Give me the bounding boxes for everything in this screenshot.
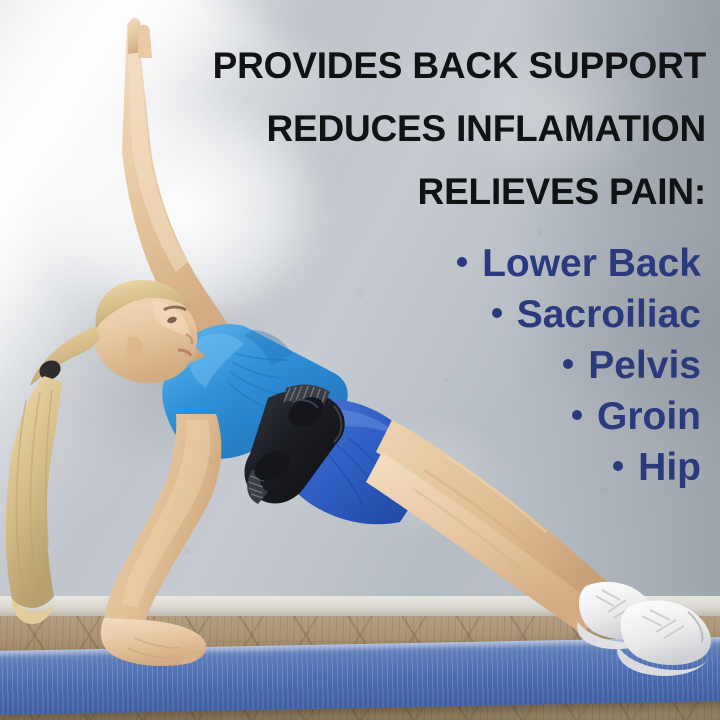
list-item: Hip (281, 442, 701, 493)
bullet-dot-icon (613, 461, 623, 471)
wall-baseboard (0, 596, 720, 618)
bullet-dot-icon (572, 410, 582, 420)
bullet-dot-icon (492, 308, 502, 318)
bullet-label: Hip (638, 446, 701, 489)
list-item: Pelvis (281, 340, 701, 391)
list-item: Lower Back (281, 238, 701, 289)
bullet-label: Groin (597, 395, 701, 438)
headline-block: PROVIDES BACK SUPPORT REDUCES INFLAMATIO… (146, 34, 706, 223)
bullet-label: Lower Back (482, 242, 701, 285)
pain-relief-bullet-list: Lower Back Sacroiliac Pelvis Groin Hip (281, 238, 701, 493)
bullet-dot-icon (457, 257, 467, 267)
headline-line-1: PROVIDES BACK SUPPORT (146, 34, 706, 97)
list-item: Groin (281, 391, 701, 442)
bullet-label: Sacroiliac (517, 293, 701, 336)
bullet-dot-icon (563, 359, 573, 369)
headline-line-2: REDUCES INFLAMATION (146, 97, 706, 160)
bullet-label: Pelvis (588, 344, 701, 387)
headline-line-3: RELIEVES PAIN: (146, 160, 706, 223)
list-item: Sacroiliac (281, 289, 701, 340)
promo-image-canvas: PROVIDES BACK SUPPORT REDUCES INFLAMATIO… (0, 0, 720, 720)
